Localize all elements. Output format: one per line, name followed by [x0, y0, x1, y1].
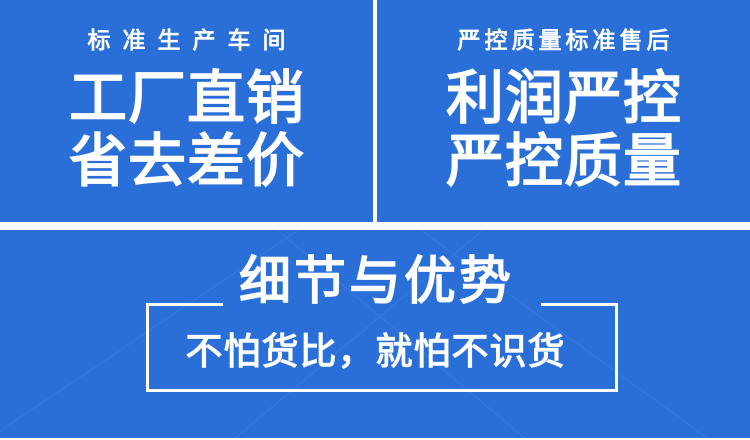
frame-segment-top-left — [146, 303, 223, 306]
panel-factory-direct: 标准生产车间 工厂直销 省去差价 — [0, 0, 373, 222]
panel-quality-control: 严控质量标准售后 利润严控 严控质量 — [377, 0, 750, 222]
panel-quality-control-content: 严控质量标准售后 利润严控 严控质量 — [377, 0, 750, 222]
promo-banner: 标准生产车间 工厂直销 省去差价 严控质量标准售后 利润严控 严控质量 — [0, 0, 750, 440]
panel-right-headline-line1: 利润严控 — [445, 68, 682, 130]
panel-left-eyebrow: 标准生产车间 — [76, 29, 298, 52]
frame-segment-top-right — [541, 303, 618, 306]
panel-left-headline-line1: 工厂直销 — [68, 68, 305, 130]
frame-segment-right — [615, 303, 618, 392]
panel-right-eyebrow: 严控质量标准售后 — [454, 29, 674, 52]
decorative-frame — [146, 303, 618, 392]
panel-left-headline-line2: 省去差价 — [68, 131, 305, 193]
panel-right-headline-line2: 严控质量 — [445, 131, 682, 193]
frame-segment-bottom — [146, 389, 618, 392]
frame-segment-left — [146, 303, 149, 392]
panel-factory-direct-content: 标准生产车间 工厂直销 省去差价 — [0, 0, 373, 222]
top-panel-row: 标准生产车间 工厂直销 省去差价 严控质量标准售后 利润严控 严控质量 — [0, 0, 750, 222]
